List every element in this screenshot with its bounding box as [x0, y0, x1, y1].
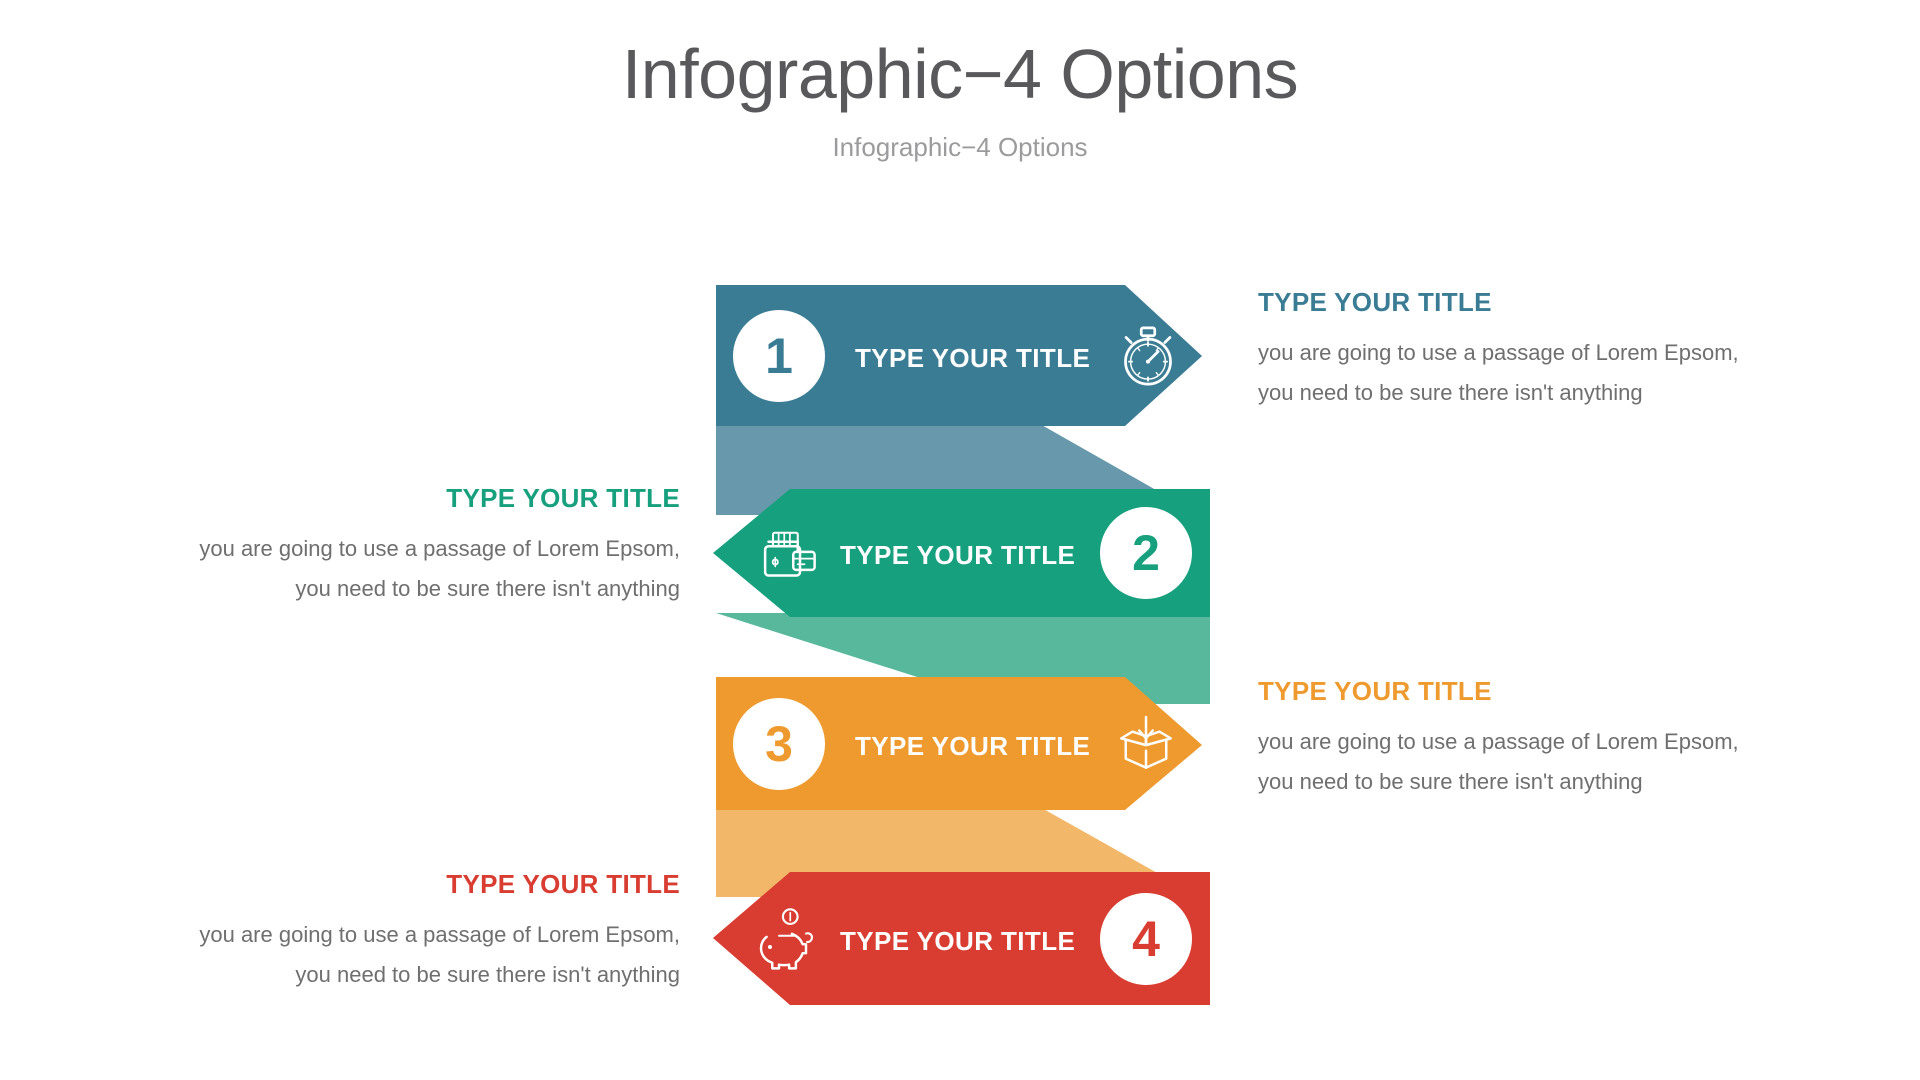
side-title-3: TYPE YOUR TITLE [1258, 677, 1858, 706]
side-desc-1: you are going to use a passage of Lorem … [1258, 333, 1858, 414]
band-title-2: TYPE YOUR TITLE [840, 540, 1075, 571]
open-box-icon [1110, 708, 1182, 780]
side-title-4: TYPE YOUR TITLE [80, 870, 680, 899]
side-title-1: TYPE YOUR TITLE [1258, 288, 1858, 317]
step-number-circle-3: 3 [733, 698, 825, 790]
band-title-4: TYPE YOUR TITLE [840, 926, 1075, 957]
step-number-4: 4 [1132, 914, 1160, 964]
step-side-block-3: TYPE YOUR TITLE you are going to use a p… [1258, 677, 1858, 803]
side-title-2: TYPE YOUR TITLE [80, 484, 680, 513]
band-title-3: TYPE YOUR TITLE [855, 731, 1090, 762]
side-desc-line-2b: you need to be sure there isn't anything [295, 576, 680, 601]
step-number-circle-1: 1 [733, 310, 825, 402]
side-desc-2: you are going to use a passage of Lorem … [80, 529, 680, 610]
side-desc-line-3a: you are going to use a passage of Lorem … [1258, 729, 1739, 754]
step-number-circle-4: 4 [1100, 893, 1192, 985]
infographic-stage: 1 TYPE YOUR TITLE TYPE YOUR TITLE you ar… [0, 0, 1920, 1080]
side-desc-line-1b: you need to be sure there isn't anything [1258, 380, 1643, 405]
step-number-3: 3 [765, 719, 793, 769]
side-desc-line-4a: you are going to use a passage of Lorem … [199, 922, 680, 947]
side-desc-line-1a: you are going to use a passage of Lorem … [1258, 340, 1739, 365]
step-number-circle-2: 2 [1100, 507, 1192, 599]
step-number-1: 1 [765, 331, 793, 381]
side-desc-4: you are going to use a passage of Lorem … [80, 915, 680, 996]
side-desc-line-4b: you need to be sure there isn't anything [295, 962, 680, 987]
side-desc-line-2a: you are going to use a passage of Lorem … [199, 536, 680, 561]
step-side-block-4: TYPE YOUR TITLE you are going to use a p… [80, 870, 680, 996]
step-side-block-2: TYPE YOUR TITLE you are going to use a p… [80, 484, 680, 610]
band-title-1: TYPE YOUR TITLE [855, 343, 1090, 374]
piggy-bank-icon [752, 902, 824, 974]
wallet-icon [755, 517, 827, 589]
stopwatch-icon [1112, 320, 1184, 392]
step-side-block-1: TYPE YOUR TITLE you are going to use a p… [1258, 288, 1858, 414]
side-desc-3: you are going to use a passage of Lorem … [1258, 722, 1858, 803]
side-desc-line-3b: you need to be sure there isn't anything [1258, 769, 1643, 794]
step-number-2: 2 [1132, 528, 1160, 578]
